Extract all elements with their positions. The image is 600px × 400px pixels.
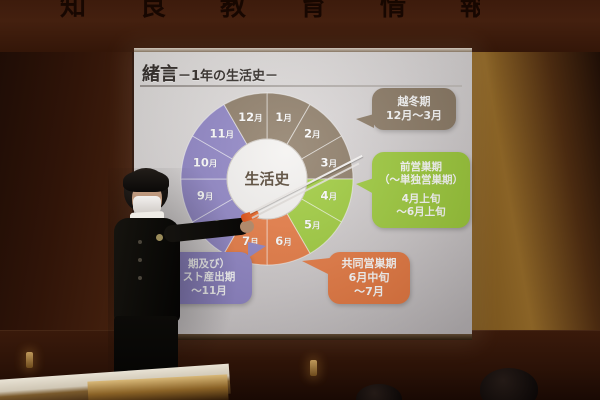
callout-overwintering: 越冬期 12月〜3月 <box>372 88 456 130</box>
callout-tail <box>356 114 374 128</box>
presenter-fringe <box>123 170 169 192</box>
wall-sconce-left <box>26 352 33 368</box>
callout-line-2: 6月中旬 <box>349 271 390 285</box>
callout-line-3: 4月上旬 <box>402 193 441 206</box>
callout-line-4: 〜6月上旬 <box>396 206 445 219</box>
donut-hub-label: 生活史 <box>244 170 290 188</box>
slide-title: 緒言－1年の生活史－ <box>142 60 278 86</box>
title-divider <box>140 85 462 87</box>
photo-scene: 知 良 教 育 情 報 緒言－1年の生活史－ 1月2月3月4月5月6月7月8月9… <box>0 0 600 400</box>
callout-line-1: 越冬期 <box>398 95 431 109</box>
callout-tail <box>248 242 266 258</box>
jacket-button <box>138 276 142 280</box>
jacket-button <box>138 258 142 262</box>
callout-communal-nesting: 共同営巣期 6月中旬 〜7月 <box>328 252 410 304</box>
slide-title-sub: －1年の生活史－ <box>178 69 278 84</box>
callout-pre-nesting: 前営巣期 （〜単独営巣期） 4月上旬 〜6月上旬 <box>372 152 470 228</box>
callout-line-2: （〜単独営巣期） <box>379 174 463 187</box>
wall-sconce-center <box>310 360 317 376</box>
wall-top: 知 良 教 育 情 報 <box>0 0 600 52</box>
jacket-buttons <box>138 240 142 294</box>
callout-line-1: 前営巣期 <box>400 161 442 174</box>
jacket-button <box>138 240 142 244</box>
slide-title-main: 緒言 <box>142 64 178 85</box>
presenter-arm <box>163 217 250 243</box>
callout-tail <box>356 178 374 194</box>
callout-line-1: 共同営巣期 <box>342 257 397 271</box>
wall-banner-text: 知 良 教 育 情 報 <box>60 0 480 20</box>
lapel-badge <box>156 234 163 241</box>
callout-line-3: 〜7月 <box>354 285 384 299</box>
callout-line-2: 12月〜3月 <box>386 109 442 123</box>
callout-tail <box>302 258 330 275</box>
